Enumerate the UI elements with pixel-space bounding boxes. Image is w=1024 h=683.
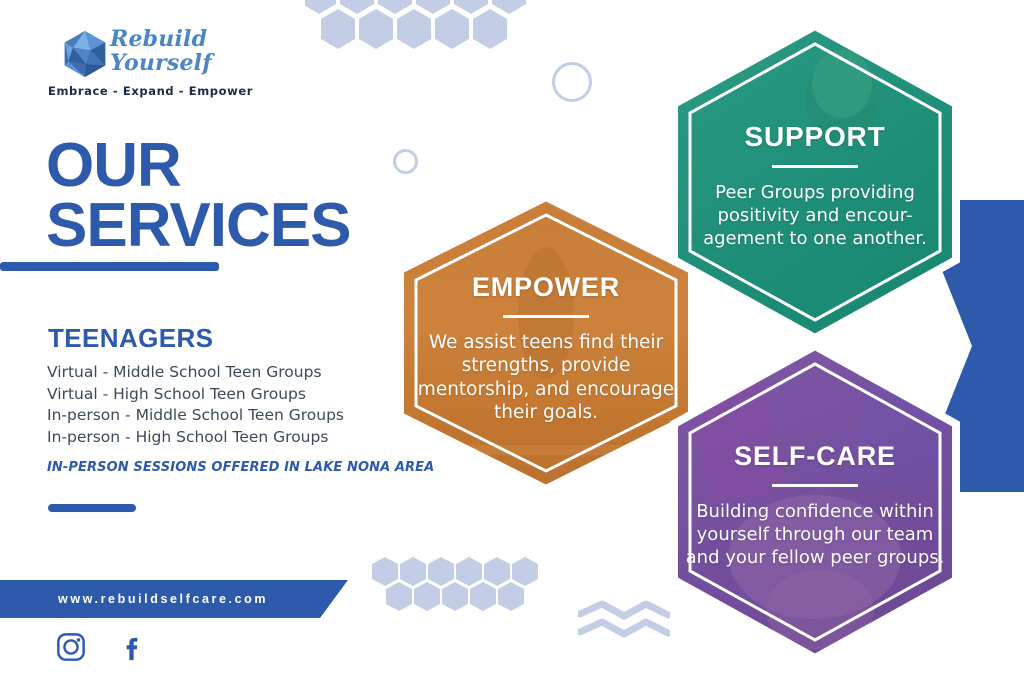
hexagon-pattern-top	[305, 0, 555, 60]
poster-canvas: Rebuild Yourself Embrace - Expand - Empo…	[0, 0, 1024, 683]
zigzag-wave-icon	[578, 600, 670, 640]
facebook-icon[interactable]	[118, 632, 148, 662]
logo-tagline: Embrace - Expand - Empower	[48, 84, 278, 98]
logo-line-1: Rebuild	[110, 26, 207, 52]
card-support-body: Peer Groups providing positivity and enc…	[684, 181, 946, 250]
instagram-icon[interactable]	[56, 632, 86, 662]
list-item: In-person - High School Teen Groups	[47, 427, 407, 449]
list-item: Virtual - High School Teen Groups	[47, 384, 407, 406]
card-support[interactable]: SUPPORT Peer Groups providing positivity…	[670, 22, 960, 342]
card-selfcare-body: Building confidence within yourself thro…	[684, 500, 946, 569]
hexagon-pattern-bottom	[372, 557, 542, 613]
card-empower-body: We assist teens find their strengths, pr…	[410, 331, 682, 425]
section-heading-teenagers: TEENAGERS	[48, 323, 213, 354]
card-support-title: SUPPORT	[745, 121, 886, 153]
decorative-circle-large	[552, 62, 592, 102]
card-empower-title: EMPOWER	[472, 272, 620, 303]
card-support-content: SUPPORT Peer Groups providing positivity…	[670, 22, 960, 342]
card-support-divider	[772, 165, 858, 168]
brand-logo[interactable]: Rebuild Yourself Embrace - Expand - Empo…	[52, 26, 267, 106]
card-selfcare-content: SELF-CARE Building confidence within you…	[670, 342, 960, 662]
social-links	[56, 632, 148, 662]
logo-wordmark: Rebuild Yourself	[110, 26, 260, 82]
website-url[interactable]: www.rebuildselfcare.com	[58, 580, 268, 618]
card-selfcare[interactable]: SELF-CARE Building confidence within you…	[670, 342, 960, 662]
website-banner[interactable]: www.rebuildselfcare.com	[0, 580, 348, 618]
logo-line-2: Yourself	[110, 50, 212, 76]
card-empower[interactable]: EMPOWER We assist teens find their stren…	[396, 193, 696, 493]
section-divider-bar	[48, 504, 136, 512]
services-list: Virtual - Middle School Teen Groups Virt…	[47, 362, 407, 448]
card-selfcare-divider	[772, 484, 858, 487]
list-item: Virtual - Middle School Teen Groups	[47, 362, 407, 384]
faceted-gem-icon	[62, 30, 108, 78]
card-empower-divider	[503, 315, 589, 318]
list-item: In-person - Middle School Teen Groups	[47, 405, 407, 427]
title-underline-bar	[0, 262, 219, 271]
card-empower-content: EMPOWER We assist teens find their stren…	[396, 193, 696, 493]
card-selfcare-title: SELF-CARE	[734, 441, 896, 472]
page-title-line-1: OUR	[46, 131, 181, 200]
